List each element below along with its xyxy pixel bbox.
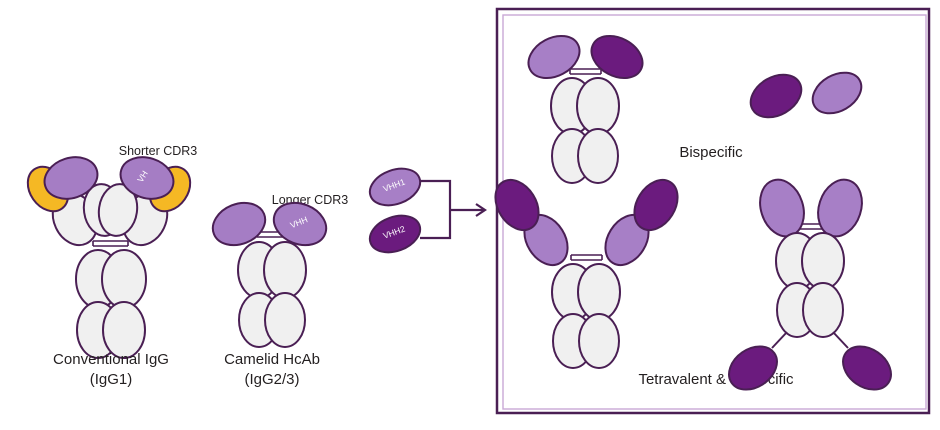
conventional-igg-label-line1: Conventional IgG (53, 351, 169, 368)
tet-ch3-right (579, 314, 619, 368)
camelid-hcab-label-line1: Camelid HcAb (224, 351, 320, 368)
app-ch3-right (803, 283, 843, 337)
panel-caption-bispecific: Bispecific (679, 144, 743, 161)
hcab-ch3-right (265, 293, 305, 347)
bispecific-panel: Bispecific Tetravalent & Bispecific (487, 9, 929, 413)
shorter-cdr3-annotation: Shorter CDR3 (119, 144, 198, 158)
conventional-igg-label-line2: (IgG1) (90, 371, 133, 388)
app-ch2-right (802, 233, 844, 289)
bsp-ch2-right (577, 78, 619, 134)
tet-ch2-right (578, 264, 620, 320)
igg-ch3-right (103, 302, 145, 358)
hcab-ch2-right (264, 242, 306, 298)
antibody-format-diagram: Shorter CDR3 VL VH Conventional IgG (IgG… (0, 0, 940, 430)
camelid-hcab-label-line2: (IgG2/3) (244, 371, 299, 388)
bsp-ch3-right (578, 129, 618, 183)
igg-ch2-right (102, 250, 146, 308)
